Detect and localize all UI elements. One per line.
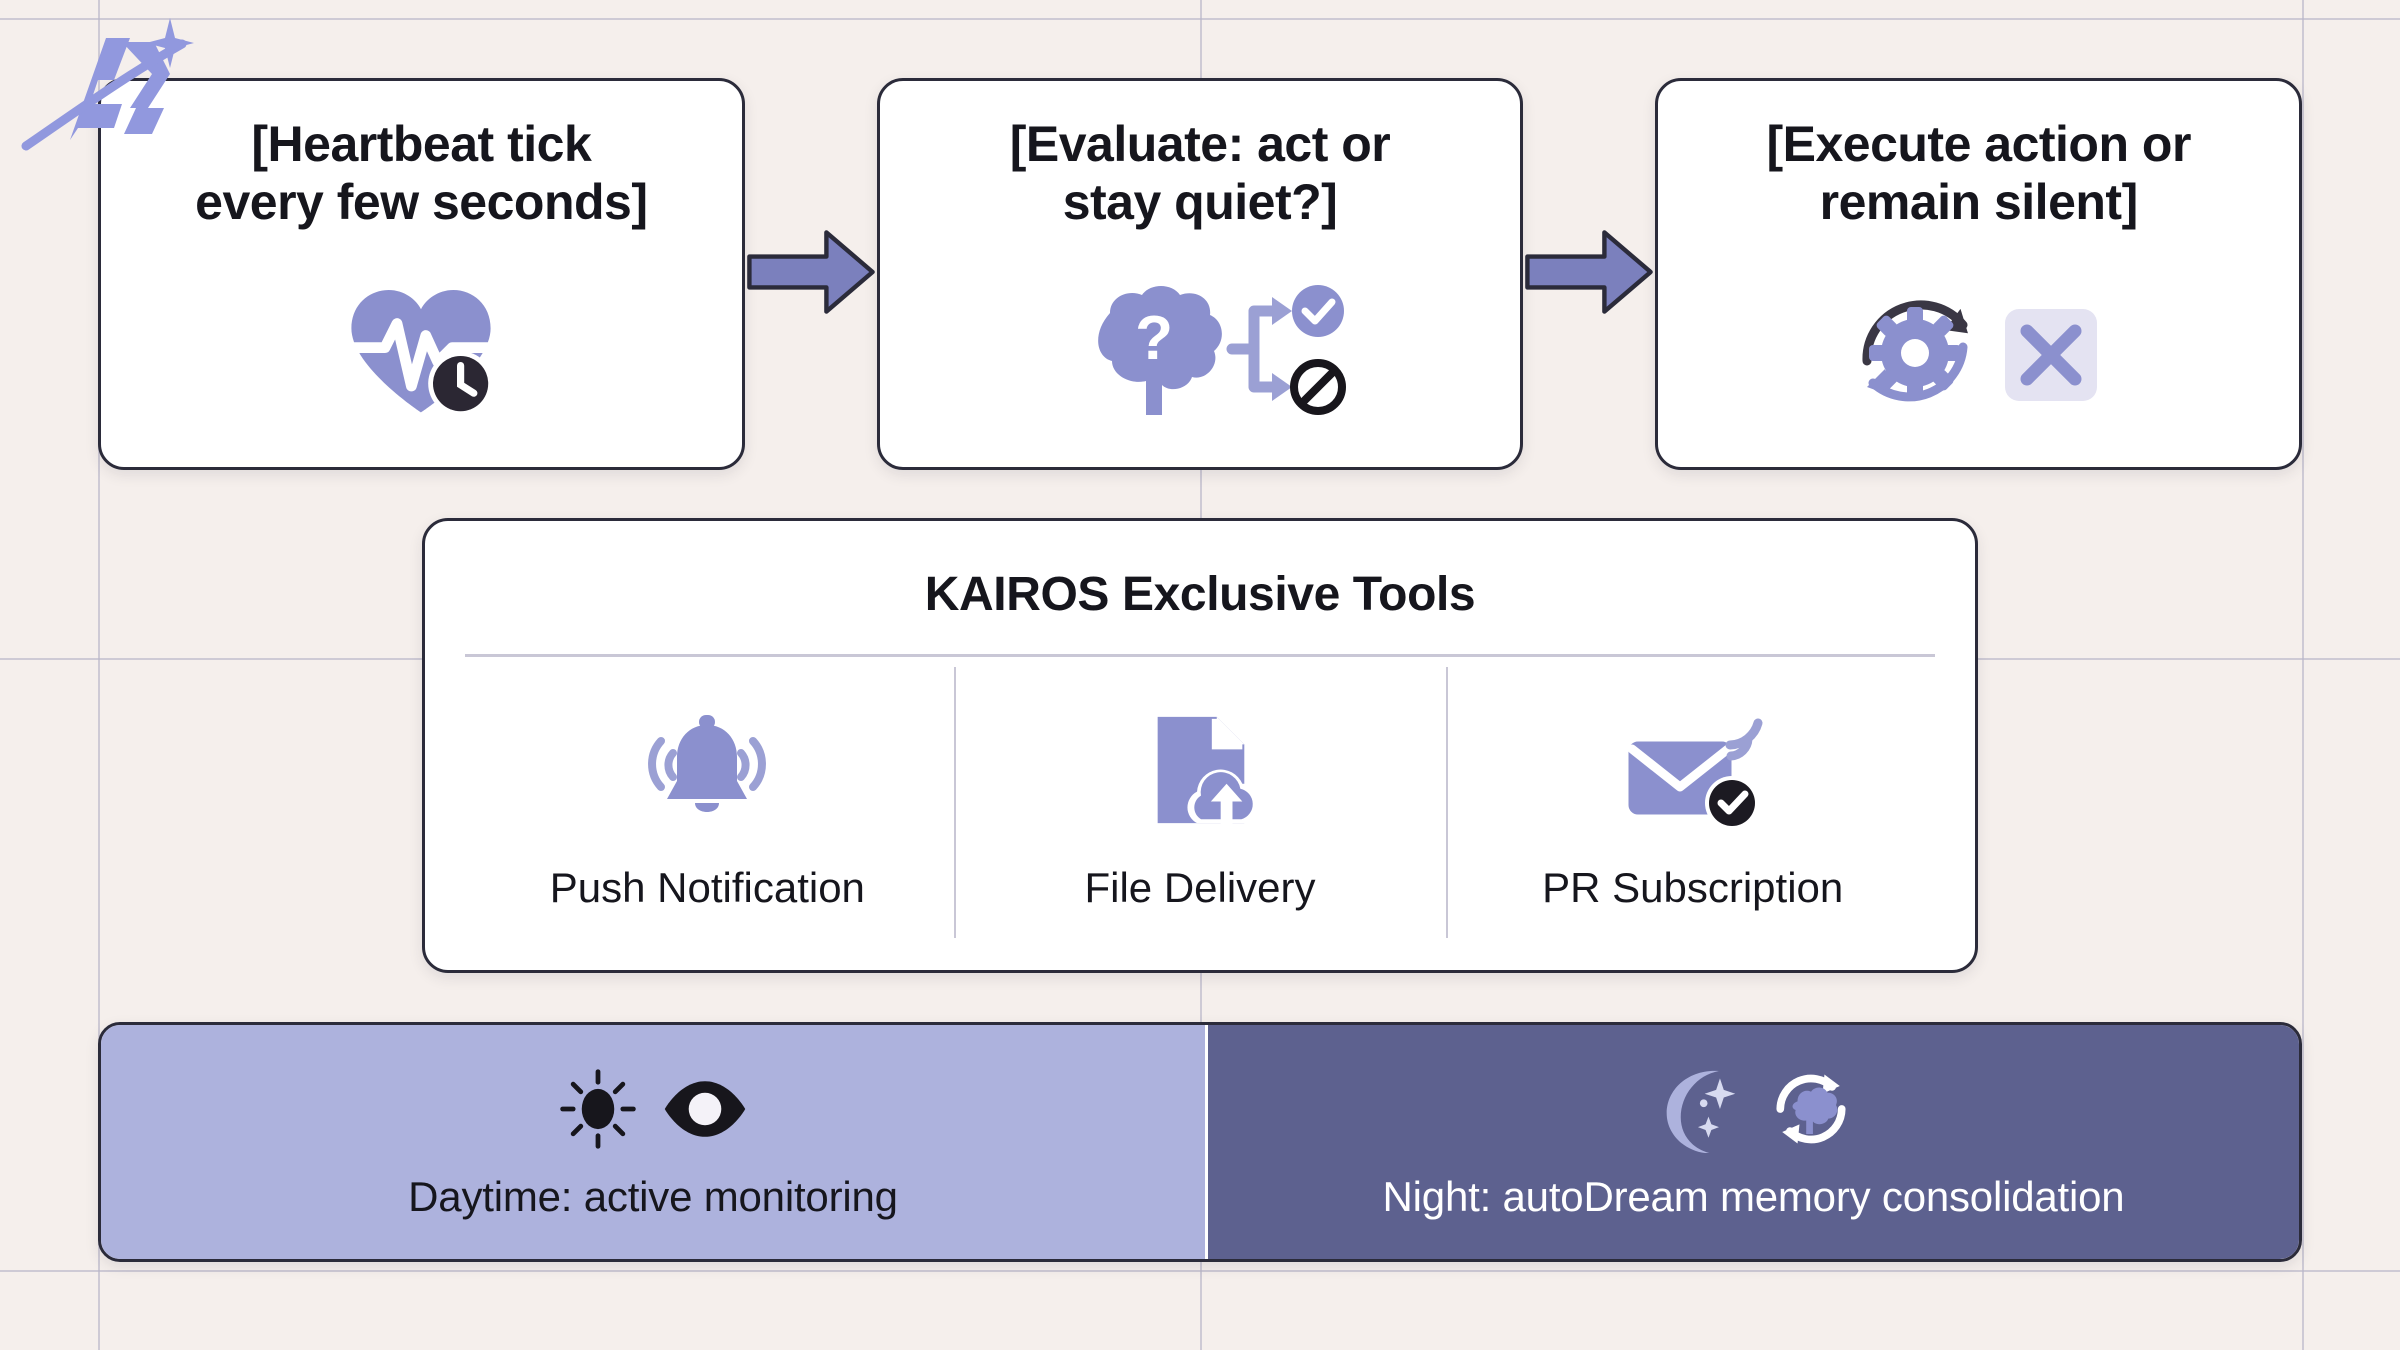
flow-card-title: [Heartbeat tick every few seconds] xyxy=(195,115,647,231)
process-flow-row: [Heartbeat tick every few seconds] xyxy=(98,78,2302,478)
flow-arrow-2 xyxy=(1523,78,1655,316)
envelope-subscribe-check-icon xyxy=(1618,708,1768,834)
flow-card-title-line2: stay quiet?] xyxy=(1063,174,1338,230)
night-half[interactable]: Night: autoDream memory consolidation xyxy=(1205,1025,2299,1259)
flow-card-title-line1: [Evaluate: act or xyxy=(1010,116,1391,172)
flow-card-title-line2: every few seconds] xyxy=(195,174,647,230)
night-label: Night: autoDream memory consolidation xyxy=(1383,1173,2125,1221)
tool-item-file-delivery[interactable]: File Delivery xyxy=(954,661,1447,948)
tool-item-push-notification[interactable]: Push Notification xyxy=(461,661,954,948)
heartbeat-clock-icon xyxy=(337,257,505,443)
tools-grid: Push Notification File Deli xyxy=(461,661,1939,948)
flow-card-title: [Evaluate: act or stay quiet?] xyxy=(1010,115,1391,231)
svg-text:?: ? xyxy=(1135,304,1173,373)
tool-label: Push Notification xyxy=(550,864,865,912)
crescent-moon-stars-icon xyxy=(1649,1065,1745,1153)
ringing-bell-icon xyxy=(637,708,777,834)
flow-card-title-line1: [Execute action or xyxy=(1766,116,2190,172)
ascendia-spark-logo-icon xyxy=(18,12,218,162)
flow-arrow-1 xyxy=(745,78,877,316)
flow-card-title-line2: remain silent] xyxy=(1820,174,2138,230)
tool-label: PR Subscription xyxy=(1542,864,1843,912)
tools-divider xyxy=(465,654,1935,657)
sun-icon xyxy=(555,1066,641,1152)
flow-card-title-line1: [Heartbeat tick xyxy=(251,116,591,172)
tool-item-pr-subscription[interactable]: PR Subscription xyxy=(1446,661,1939,948)
daytime-half[interactable]: Daytime: active monitoring xyxy=(101,1025,1205,1259)
flow-card-title: [Execute action or remain silent] xyxy=(1766,115,2190,231)
tools-panel-title: KAIROS Exclusive Tools xyxy=(461,567,1939,622)
daytime-label: Daytime: active monitoring xyxy=(408,1173,898,1221)
brain-refresh-icon xyxy=(1763,1061,1859,1157)
night-icons xyxy=(1649,1063,1859,1155)
right-arrow-icon xyxy=(1523,228,1655,316)
flow-card-evaluate[interactable]: [Evaluate: act or stay quiet?] ? xyxy=(877,78,1524,470)
day-night-banner: Daytime: active monitoring Night: xyxy=(98,1022,2302,1262)
flow-card-execute[interactable]: [Execute action or remain silent] xyxy=(1655,78,2302,470)
kairos-tools-panel: KAIROS Exclusive Tools Push Notification xyxy=(422,518,1978,973)
gear-refresh-cancel-icon xyxy=(1849,257,2109,443)
tool-label: File Delivery xyxy=(1084,864,1315,912)
file-cloud-upload-icon xyxy=(1136,708,1264,834)
eye-icon xyxy=(659,1075,751,1143)
brain-decision-branch-icon: ? xyxy=(1050,257,1350,443)
right-arrow-icon xyxy=(745,228,877,316)
daytime-icons xyxy=(555,1063,751,1155)
